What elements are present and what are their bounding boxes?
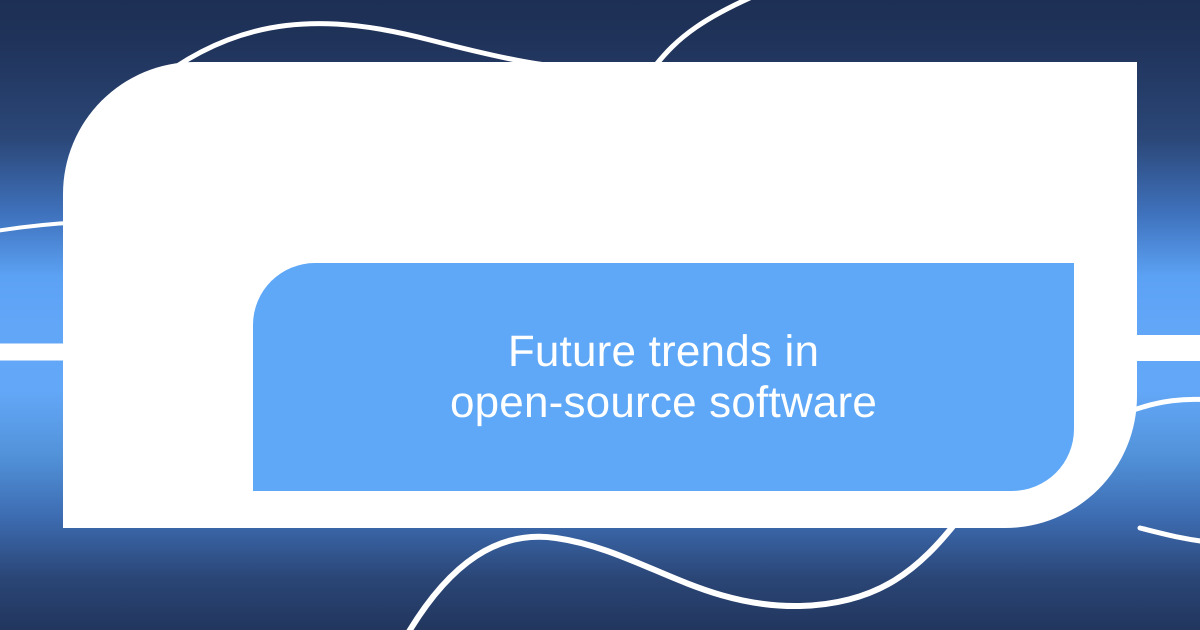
headline-panel: Future trends in open-source software xyxy=(253,263,1074,491)
share-card-canvas: Future trends in open-source software xyxy=(0,0,1200,630)
content-card: Future trends in open-source software xyxy=(63,62,1137,528)
page-title: Future trends in open-source software xyxy=(450,326,877,429)
